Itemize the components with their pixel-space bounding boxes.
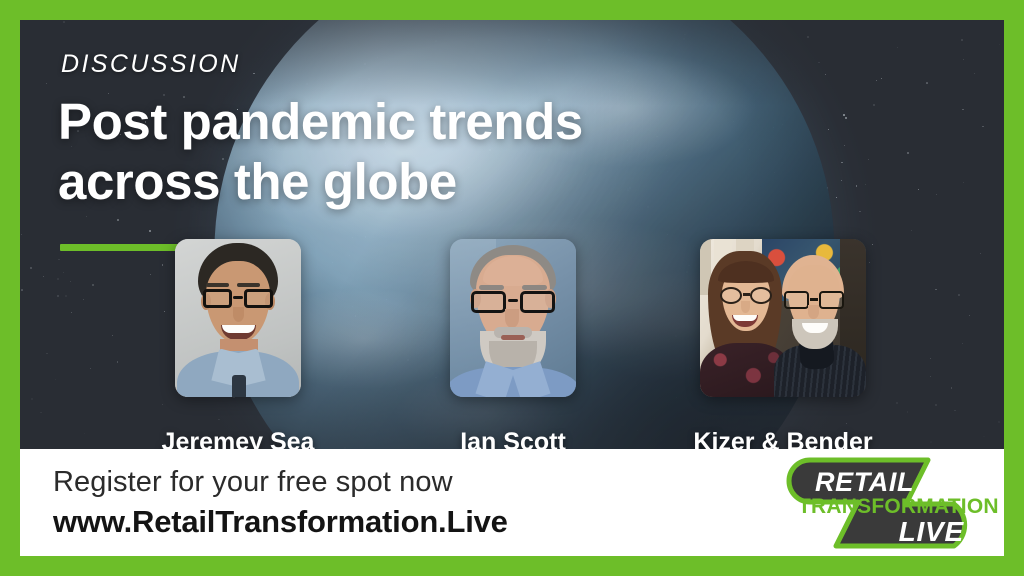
speaker-card: Kizer & Bender bbox=[20, 20, 186, 178]
avatar bbox=[450, 239, 576, 397]
banner-inner: DISCUSSION Post pandemic trends across t… bbox=[20, 20, 1004, 556]
promo-banner: DISCUSSION Post pandemic trends across t… bbox=[0, 0, 1024, 576]
avatar bbox=[175, 239, 301, 397]
cta-url[interactable]: www.RetailTransformation.Live bbox=[53, 504, 508, 540]
logo-word-live: LIVE bbox=[899, 516, 964, 548]
logo[interactable]: RETAIL TRANSFORMATION LIVE bbox=[778, 454, 986, 552]
cta-bar: Register for your free spot now www.Reta… bbox=[20, 449, 1004, 556]
eyeglasses-icon bbox=[202, 289, 274, 308]
logo-word-retail: RETAIL bbox=[815, 467, 914, 498]
avatar bbox=[700, 239, 866, 397]
cta-subtitle: Register for your free spot now bbox=[53, 466, 453, 499]
